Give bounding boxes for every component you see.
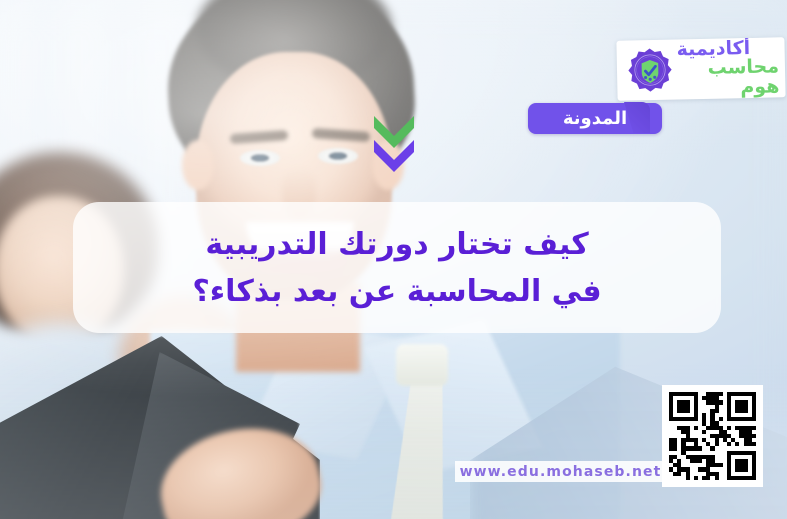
page-title-line2: في المحاسبة عن بعد بذكاء؟ xyxy=(192,275,601,308)
photo-man-eye-right xyxy=(318,148,358,164)
title-card: كيف تختار دورتك التدريبية في المحاسبة عن… xyxy=(73,202,721,333)
photo-man-tie-knot xyxy=(396,344,448,386)
academy-logo[interactable]: أكاديمية محاسب هوم xyxy=(616,37,785,101)
photo-man-ear-left xyxy=(182,140,214,190)
page-title-line1: كيف تختار دورتك التدريبية xyxy=(205,228,588,261)
academy-seal-icon xyxy=(627,47,674,94)
blog-badge-label: المدونة xyxy=(563,108,627,129)
academy-logo-line2: محاسب هوم xyxy=(677,58,780,99)
blog-badge[interactable]: المدونة xyxy=(528,103,662,134)
qr-code-matrix xyxy=(669,392,756,480)
website-url[interactable]: www.edu.mohaseb.net xyxy=(455,461,666,482)
photo-man-eye-left xyxy=(240,150,280,166)
double-chevron-down-icon xyxy=(370,110,418,172)
academy-logo-wordmark: أكاديمية محاسب هوم xyxy=(676,38,779,98)
qr-code[interactable] xyxy=(662,385,763,487)
title-card-inner: كيف تختار دورتك التدريبية في المحاسبة عن… xyxy=(73,202,721,333)
website-url-text: www.edu.mohaseb.net xyxy=(460,464,662,480)
blog-badge-fold xyxy=(624,102,650,133)
poster-canvas: أكاديمية محاسب هوم المدونة xyxy=(0,0,787,519)
